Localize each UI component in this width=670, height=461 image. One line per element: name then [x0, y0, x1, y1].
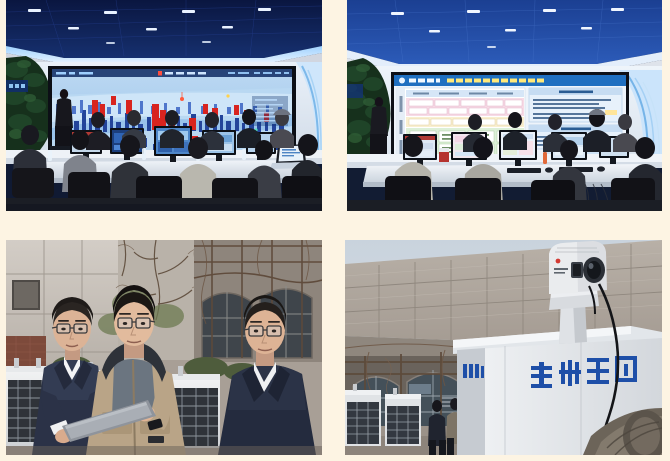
photo-grid [0, 0, 670, 461]
photo-control-room-slide[interactable] [347, 0, 662, 211]
photo-control-room-3d-city[interactable] [6, 0, 322, 211]
control-room-slide-illustration [347, 0, 662, 211]
photo-tablet-inspection[interactable] [6, 240, 322, 455]
photo-rooftop-monitoring-cabinet[interactable] [345, 240, 662, 455]
rooftop-monitoring-illustration [345, 240, 662, 455]
control-room-3d-city-illustration [6, 0, 322, 211]
tablet-inspection-illustration [6, 240, 322, 455]
